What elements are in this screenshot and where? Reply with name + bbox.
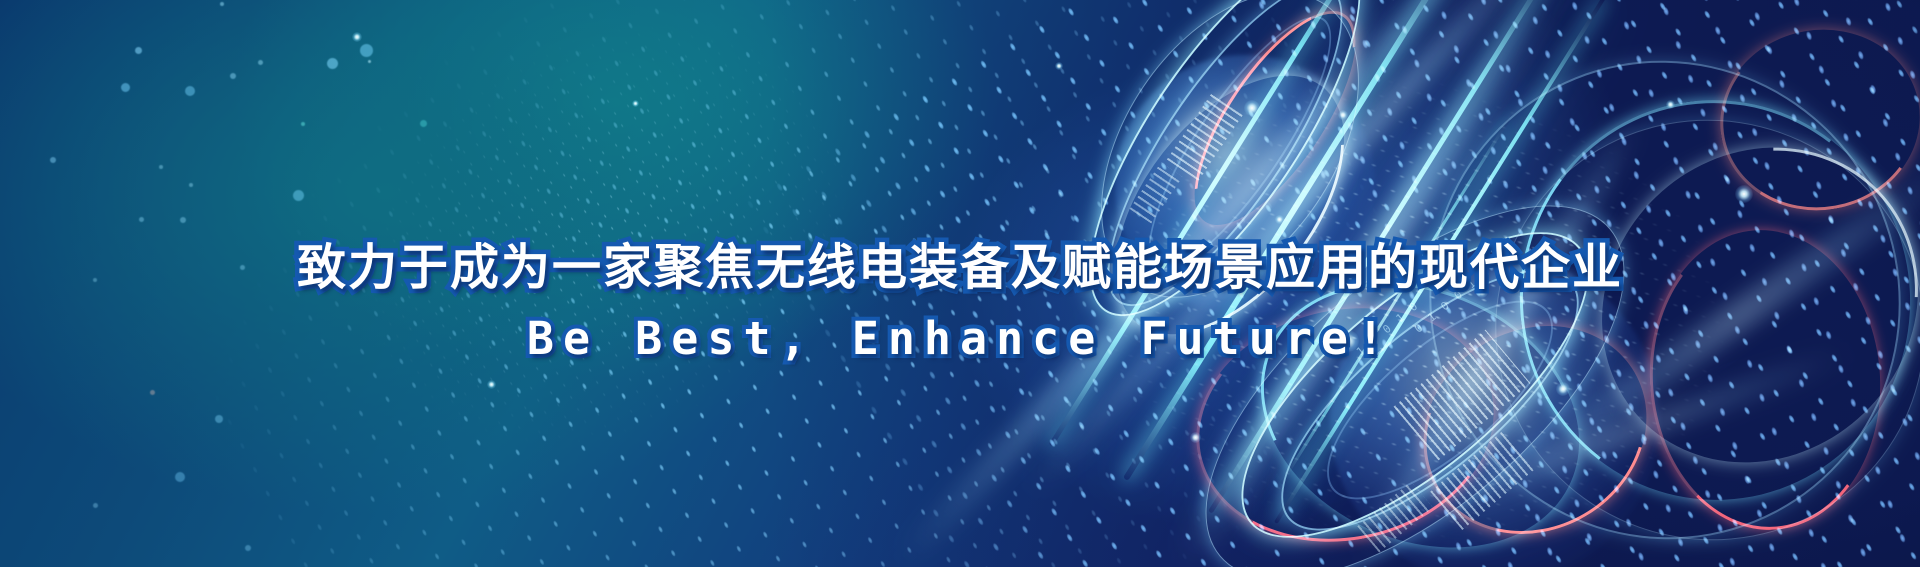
hero-text-block: 致力于成为一家聚焦无线电装备及赋能场景应用的现代企业 Be Best, Enha… <box>0 238 1920 368</box>
headline-chinese: 致力于成为一家聚焦无线电装备及赋能场景应用的现代企业 <box>0 238 1920 298</box>
headline-english-slogan: Be Best, Enhance Future! <box>0 310 1920 369</box>
hero-banner: 0 1 0 0 1 1 0 1 0 0 1 0 致力于成为一家聚焦无线电装备及赋… <box>0 0 1920 567</box>
